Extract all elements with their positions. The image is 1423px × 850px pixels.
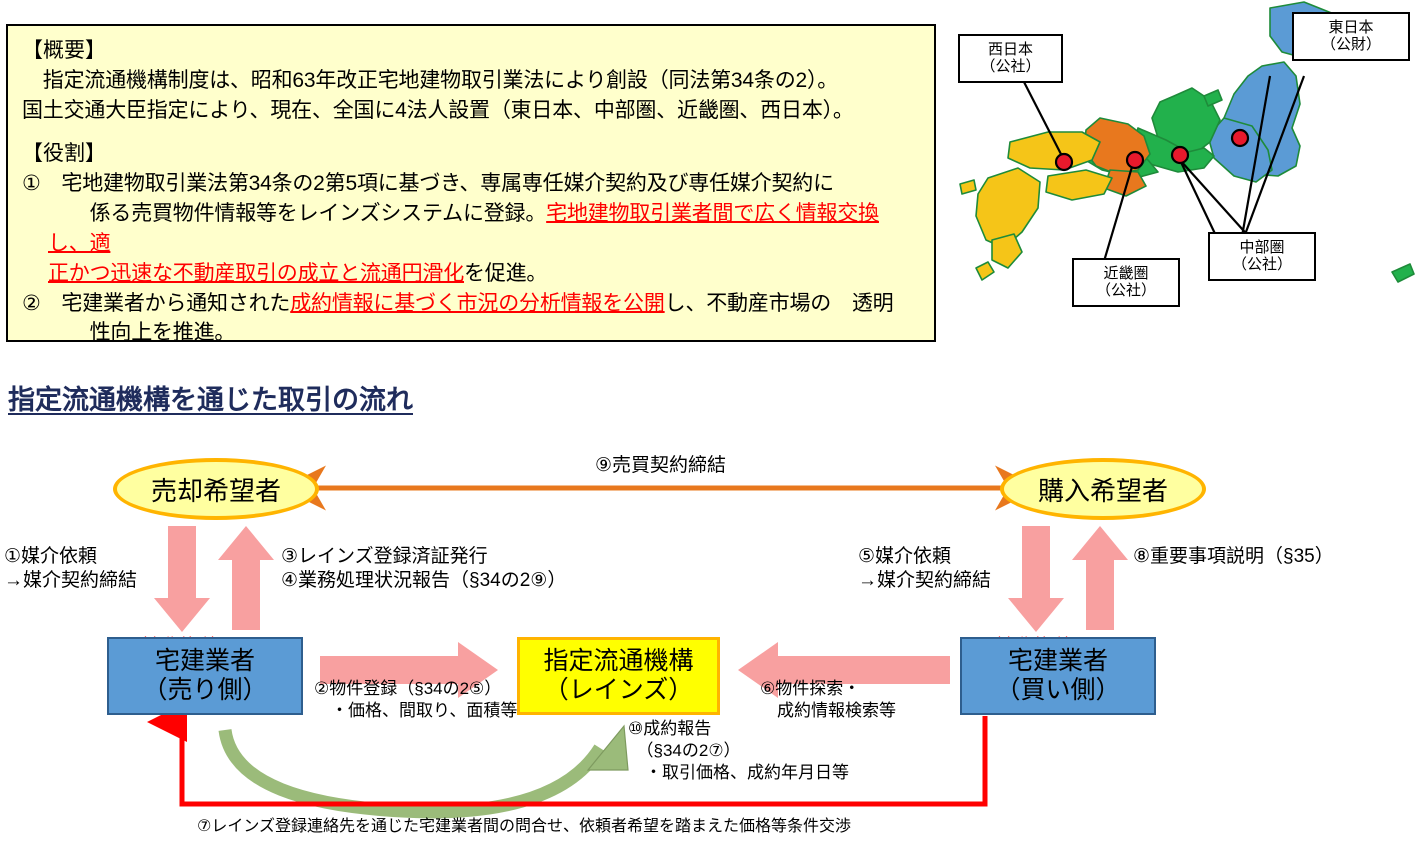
outline-text: 指定流通機構制度は、昭和63年改正宅地建物取引業法により創設（同法第34条の2）…: [22, 66, 920, 126]
region-shikoku: [1046, 170, 1112, 200]
box-buyer-agent-line1: 宅建業者: [1008, 647, 1108, 677]
role2-highlight: 成約情報に基づく市況の分析情報を公開: [290, 292, 664, 315]
arrow-5-down: [1008, 526, 1064, 632]
arrow-10-curved: [225, 726, 628, 812]
label-10: ⑩成約報告 （§34の2⑦） ・取引価格、成約年月日等: [628, 718, 849, 783]
box-reins-line2: （レインズ）: [544, 676, 694, 706]
flow-diagram: 売却希望者 購入希望者 ⑨売買契約締結 ①媒介依頼 →媒介契約締結 ③レインズ登…: [0, 430, 1423, 850]
label-7: ⑦レインズ登録連絡先を通じた宅建業者間の問合せ、依頼者希望を踏まえた価格等条件交…: [197, 812, 851, 836]
box-reins-line1: 指定流通機構: [543, 647, 693, 677]
arrow-8-up: [1072, 526, 1128, 630]
label-3-4: ③レインズ登録済証発行 ④業務処理状況報告（§34の2⑨）: [281, 545, 566, 594]
dot-kinki: [1127, 152, 1143, 168]
callout-chubu: 中部圏 （公社）: [1208, 232, 1316, 281]
island-a: [1392, 264, 1414, 282]
node-buyer-label: 購入希望者: [1038, 471, 1168, 508]
box-buyer-agent[interactable]: 宅建業者 （買い側）: [960, 637, 1156, 715]
role1-post: を促進。: [464, 262, 547, 285]
flow-section-heading: 指定流通機構を通じた取引の流れ: [8, 378, 413, 417]
dot-chubu: [1172, 147, 1188, 163]
box-seller-agent[interactable]: 宅建業者 （売り側）: [107, 637, 303, 715]
dot-west: [1056, 154, 1072, 170]
label-6: ⑥物件探索・ 成約情報検索等: [760, 678, 896, 722]
role-item-1: ① 宅地建物取引業法第34条の2第5項に基づき、専属専任媒介契約及び専任媒介契約…: [22, 169, 920, 288]
callout-chubu-line2: （公社）: [1216, 256, 1308, 273]
label-5: ⑤媒介依頼 →媒介契約締結: [858, 545, 991, 594]
label-2: ②物件登録（§34の2⑤） ・価格、間取り、面積等: [314, 678, 517, 722]
dot-east: [1232, 130, 1248, 146]
role-item-2: ② 宅建業者から通知された成約情報に基づく市況の分析情報を公開し、不動産市場の …: [22, 289, 920, 349]
box-seller-agent-line1: 宅建業者: [155, 647, 255, 677]
label-1: ①媒介依頼 →媒介契約締結: [4, 545, 137, 594]
region-kyushu-s: [992, 234, 1022, 268]
callout-west-line1: 西日本: [966, 41, 1055, 58]
callout-chubu-line1: 中部圏: [1216, 239, 1308, 256]
node-seller[interactable]: 売却希望者: [113, 458, 319, 520]
label-contract-9: ⑨売買契約締結: [595, 454, 726, 478]
summary-spacer: [22, 125, 920, 139]
island-c: [960, 180, 976, 194]
callout-east-line2: （公財）: [1300, 36, 1402, 53]
callout-west-line2: （公社）: [966, 58, 1055, 75]
region-chugoku: [1008, 132, 1100, 170]
callout-kinki: 近畿圏 （公社）: [1072, 258, 1180, 307]
box-seller-agent-line2: （売り側）: [142, 676, 267, 706]
role-label: 【役割】: [22, 139, 920, 169]
arrow-1-down: [154, 526, 210, 632]
island-okinawa: [976, 262, 994, 280]
box-buyer-agent-line2: （買い側）: [995, 676, 1120, 706]
role2-pre: ② 宅建業者から通知された: [22, 292, 290, 315]
outline-label: 【概要】: [22, 36, 920, 66]
callout-east: 東日本 （公財）: [1292, 12, 1410, 61]
island-b: [1204, 90, 1222, 106]
box-reins[interactable]: 指定流通機構 （レインズ）: [517, 637, 720, 715]
summary-box: 【概要】 指定流通機構制度は、昭和63年改正宅地建物取引業法により創設（同法第3…: [6, 24, 936, 342]
arrow-34-up: [218, 526, 274, 630]
label-8: ⑧重要事項説明（§35）: [1133, 545, 1334, 569]
callout-west: 西日本 （公社）: [958, 34, 1063, 83]
callout-kinki-line1: 近畿圏: [1080, 265, 1172, 282]
node-buyer[interactable]: 購入希望者: [1000, 458, 1206, 520]
leader-chubu: [1180, 160, 1218, 240]
callout-east-line1: 東日本: [1300, 19, 1402, 36]
japan-map: 西日本 （公社） 東日本 （公財） 近畿圏 （公社） 中部圏 （公社）: [952, 0, 1423, 430]
node-seller-label: 売却希望者: [151, 471, 281, 508]
callout-kinki-line2: （公社）: [1080, 282, 1172, 299]
